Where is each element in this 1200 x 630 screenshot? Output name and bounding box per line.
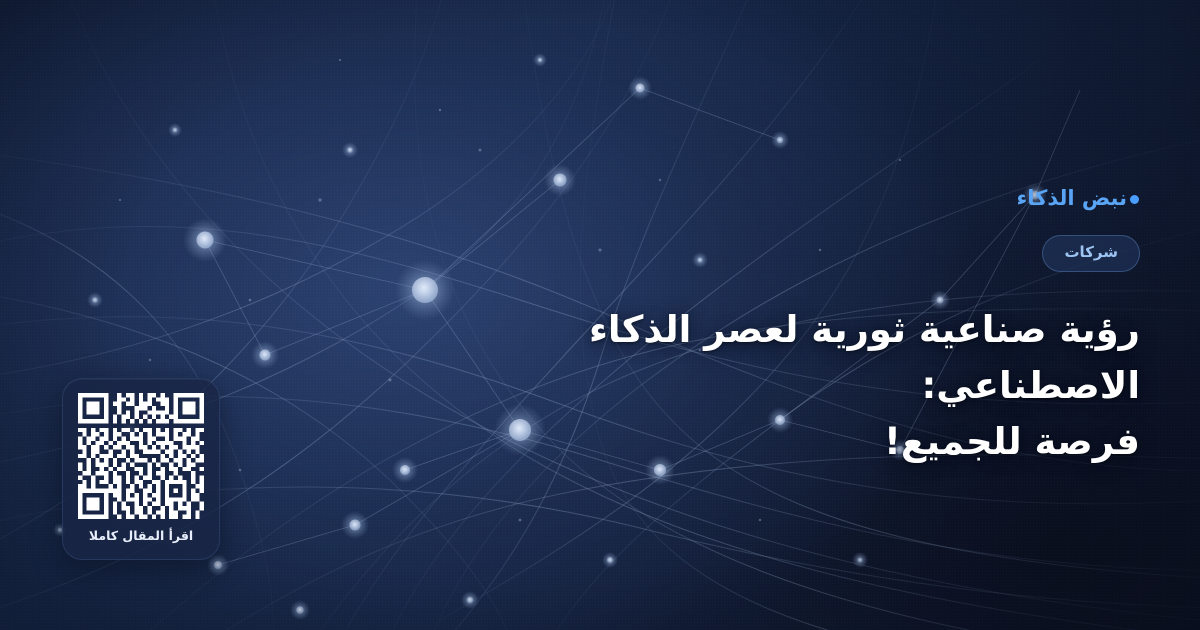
category-badge[interactable]: شركات — [1042, 235, 1140, 272]
qr-code-card[interactable]: اقرأ المقال كاملا — [62, 378, 220, 560]
bullet-dot-icon — [1130, 195, 1139, 204]
headline-line-1: رؤية صناعية ثورية لعصر الذكاء الاصطناعي: — [460, 302, 1140, 414]
qr-code-icon — [78, 393, 204, 519]
brand-label: نبض الذكاء — [460, 188, 1140, 209]
headline-line-2: فرصة للجميع! — [460, 414, 1140, 470]
qr-card-caption: اقرأ المقال كاملا — [89, 530, 193, 543]
content-column: نبض الذكاء شركات رؤية صناعية ثورية لعصر … — [460, 0, 1200, 630]
brand-name: نبض الذكاء — [1017, 186, 1127, 210]
social-card-canvas: نبض الذكاء شركات رؤية صناعية ثورية لعصر … — [0, 0, 1200, 630]
page-title: رؤية صناعية ثورية لعصر الذكاء الاصطناعي:… — [460, 302, 1140, 471]
